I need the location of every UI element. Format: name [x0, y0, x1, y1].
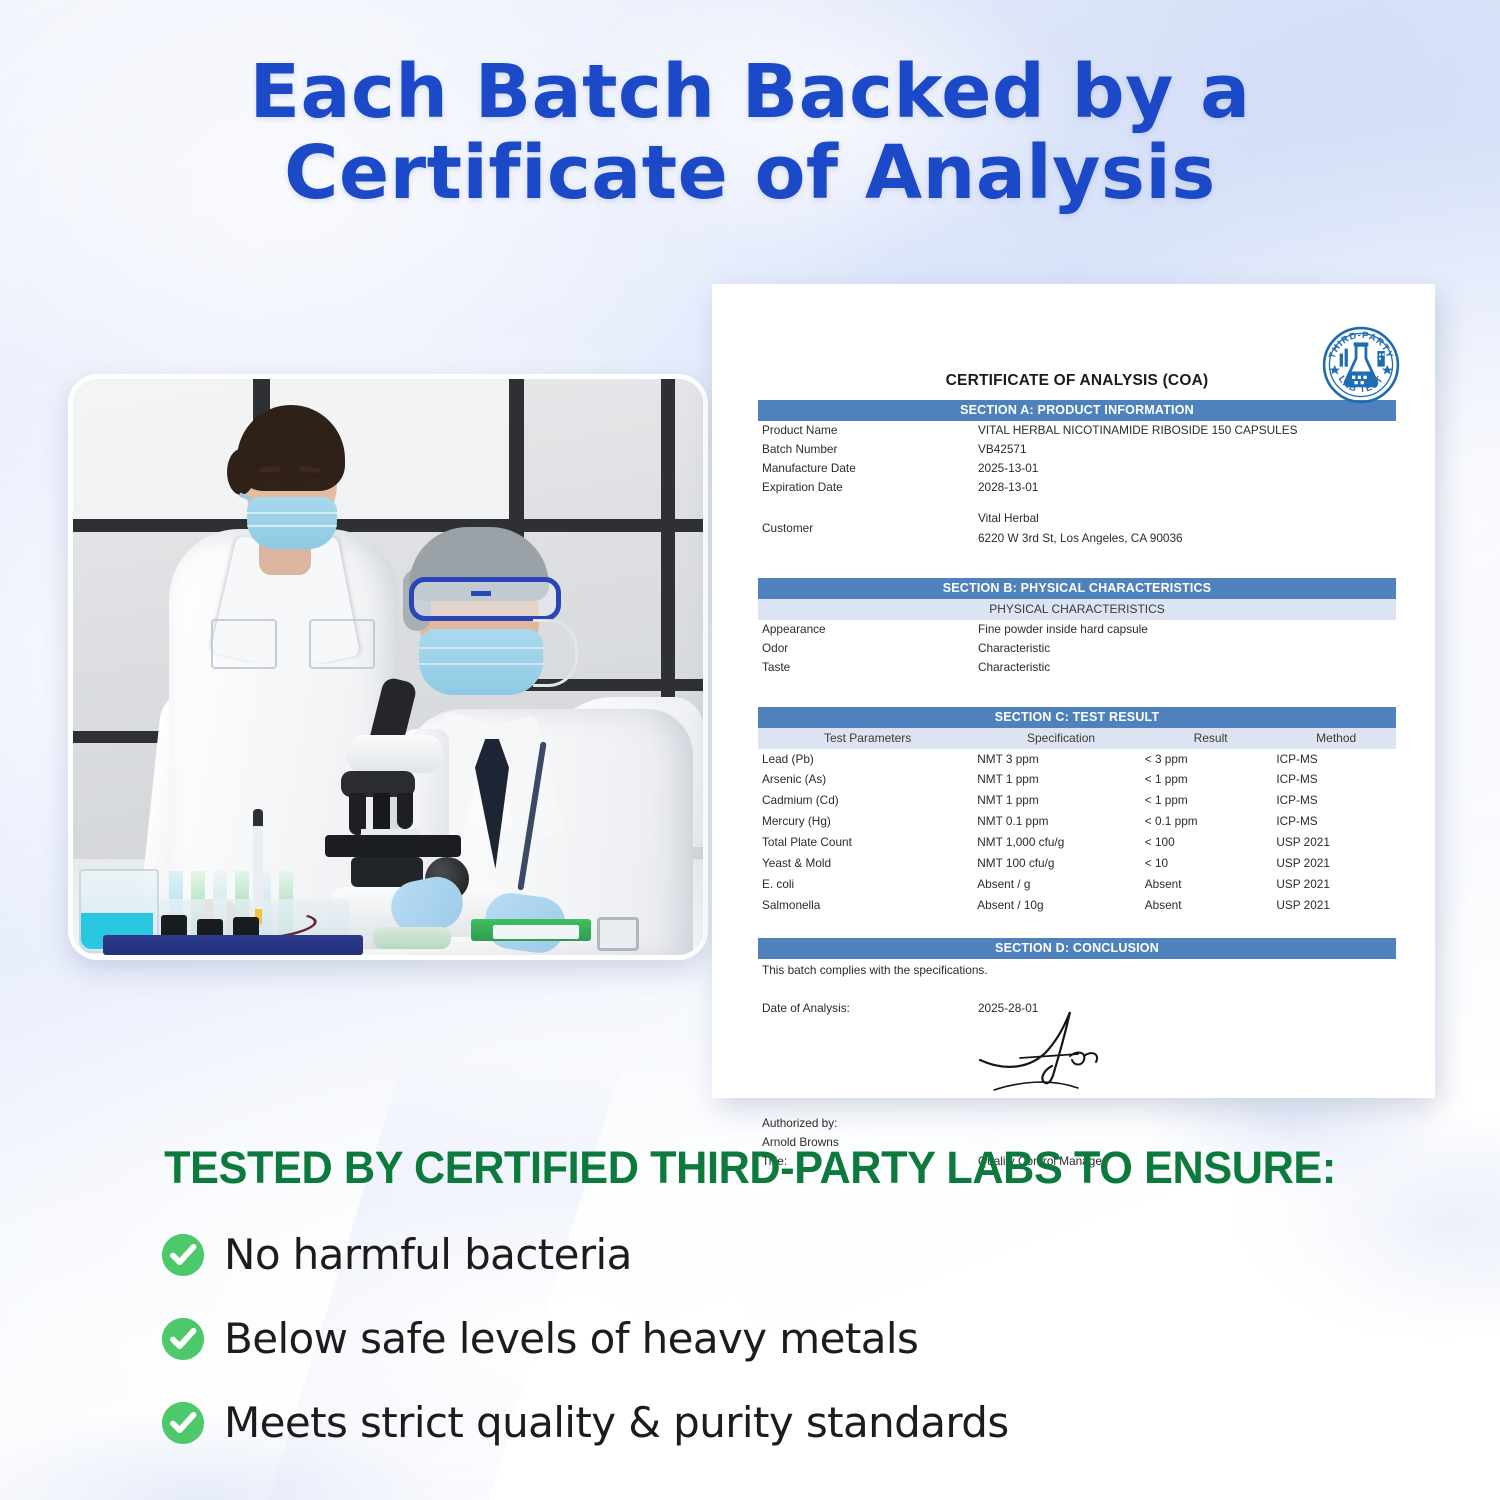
third-party-lab-test-badge: THIRD-PARTY LAB TEST	[1320, 324, 1402, 406]
row-value: Fine powder inside hard capsule	[978, 620, 1396, 639]
table-cell: Absent / 10g	[977, 895, 1145, 916]
table-row: Arsenic (As)NMT 1 ppm< 1 ppmICP-MS	[758, 770, 1396, 791]
face-mask	[419, 629, 543, 695]
table-cell: < 10	[1145, 853, 1277, 874]
promo-canvas: Each Batch Backed by a Certificate of An…	[0, 0, 1500, 1500]
table-row: SalmonellaAbsent / 10gAbsentUSP 2021	[758, 895, 1396, 916]
conclusion-text: This batch complies with the specificati…	[758, 959, 1396, 977]
coat-pocket	[309, 619, 375, 669]
appearance-row: Appearance Fine powder inside hard capsu…	[758, 620, 1396, 639]
section-a-heading: SECTION A: PRODUCT INFORMATION	[758, 400, 1396, 421]
safety-goggles-icon	[471, 591, 491, 596]
row-value: 2025-13-01	[978, 459, 1396, 478]
customer-name: Vital Herbal	[978, 509, 1396, 528]
table-cell: NMT 1,000 cfu/g	[977, 832, 1145, 853]
column-header-result: Result	[1145, 728, 1277, 749]
mask-pleat	[419, 663, 543, 665]
table-cell: Cadmium (Cd)	[758, 791, 977, 812]
window-pane	[73, 379, 253, 519]
row-label: Customer	[758, 519, 978, 538]
lab-equipment	[597, 917, 639, 951]
table-row: Lead (Pb)NMT 3 ppm< 3 ppmICP-MS	[758, 749, 1396, 770]
expiration-date-row: Expiration Date 2028-13-01	[758, 478, 1396, 497]
check-circle-icon	[160, 1400, 206, 1446]
petri-dish	[373, 927, 451, 949]
table-cell: USP 2021	[1276, 853, 1396, 874]
table-cell: NMT 1 ppm	[977, 791, 1145, 812]
list-item: No harmful bacteria	[160, 1232, 1360, 1278]
tested-by-heading: TESTED BY CERTIFIED THIRD-PARTY LABS TO …	[30, 1142, 1470, 1194]
table-cell: ICP-MS	[1276, 812, 1396, 833]
column-header-method: Method	[1276, 728, 1396, 749]
page-title: Each Batch Backed by a Certificate of An…	[0, 52, 1500, 215]
table-cell: < 100	[1145, 832, 1277, 853]
table-cell: Mercury (Hg)	[758, 812, 977, 833]
row-label: Expiration Date	[758, 478, 978, 497]
section-b-subheading: PHYSICAL CHARACTERISTICS	[758, 599, 1396, 620]
table-cell: NMT 3 ppm	[977, 749, 1145, 770]
lab-equipment	[493, 925, 579, 939]
section-d-heading: SECTION D: CONCLUSION	[758, 938, 1396, 959]
test-results-table: Test Parameters Specification Result Met…	[758, 728, 1396, 916]
list-item-label: No harmful bacteria	[224, 1234, 632, 1276]
headline-line-2: Certificate of Analysis	[0, 133, 1500, 214]
table-cell: < 3 ppm	[1145, 749, 1277, 770]
row-label: Taste	[758, 658, 978, 677]
check-circle-icon	[160, 1316, 206, 1362]
table-cell: Yeast & Mold	[758, 853, 977, 874]
safety-goggles-icon	[409, 577, 561, 621]
table-cell: Salmonella	[758, 895, 977, 916]
headline-line-1: Each Batch Backed by a	[0, 52, 1500, 133]
table-row: Yeast & MoldNMT 100 cfu/g< 10USP 2021	[758, 853, 1396, 874]
signature-icon	[974, 1002, 1134, 1102]
row-label: Batch Number	[758, 440, 978, 459]
table-cell: USP 2021	[1276, 895, 1396, 916]
check-circle-icon	[160, 1232, 206, 1278]
row-label: Product Name	[758, 421, 978, 440]
row-label: Date of Analysis:	[758, 999, 978, 1018]
eye	[302, 479, 320, 487]
table-cell: Lead (Pb)	[758, 749, 977, 770]
mask-pleat	[247, 512, 337, 514]
face-mask	[247, 497, 337, 549]
certificate-of-analysis-card: THIRD-PARTY LAB TEST	[712, 284, 1435, 1098]
row-label: Appearance	[758, 620, 978, 639]
lab-photo	[68, 374, 708, 960]
table-cell: USP 2021	[1276, 874, 1396, 895]
benefits-checklist: No harmful bacteriaBelow safe levels of …	[160, 1232, 1360, 1484]
product-name-row: Product Name VITAL HERBAL NICOTINAMIDE R…	[758, 421, 1396, 440]
manufacture-date-row: Manufacture Date 2025-13-01	[758, 459, 1396, 478]
table-cell: Absent	[1145, 895, 1277, 916]
table-cell: Absent	[1145, 874, 1277, 895]
row-label: Manufacture Date	[758, 459, 978, 478]
microscope-stage	[325, 835, 461, 857]
table-row: Mercury (Hg)NMT 0.1 ppm< 0.1 ppmICP-MS	[758, 812, 1396, 833]
microscope-objective	[397, 793, 413, 829]
taste-row: Taste Characteristic	[758, 658, 1396, 677]
table-cell: < 1 ppm	[1145, 791, 1277, 812]
table-cell: < 0.1 ppm	[1145, 812, 1277, 833]
row-value: VITAL HERBAL NICOTINAMIDE RIBOSIDE 150 C…	[978, 421, 1396, 440]
table-cell: Total Plate Count	[758, 832, 977, 853]
row-value: VB42571	[978, 440, 1396, 459]
table-cell: ICP-MS	[1276, 749, 1396, 770]
pipette	[253, 809, 263, 915]
authorized-by-row: Authorized by:	[758, 1114, 1396, 1133]
batch-number-row: Batch Number VB42571	[758, 440, 1396, 459]
customer-address: 6220 W 3rd St, Los Angeles, CA 90036	[978, 529, 1396, 548]
lab-scene	[73, 379, 703, 955]
table-row: Cadmium (Cd)NMT 1 ppm< 1 ppmICP-MS	[758, 791, 1396, 812]
mask-pleat	[247, 525, 337, 527]
coa-title: CERTIFICATE OF ANALYSIS (COA)	[758, 372, 1396, 390]
section-b-heading: SECTION B: PHYSICAL CHARACTERISTICS	[758, 578, 1396, 599]
list-item-label: Below safe levels of heavy metals	[224, 1318, 918, 1360]
table-cell: Absent / g	[977, 874, 1145, 895]
odor-row: Odor Characteristic	[758, 639, 1396, 658]
table-cell: ICP-MS	[1276, 770, 1396, 791]
customer-row: Customer Vital Herbal 6220 W 3rd St, Los…	[758, 509, 1396, 547]
column-header-test-parameters: Test Parameters	[758, 728, 977, 749]
table-cell: USP 2021	[1276, 832, 1396, 853]
section-c-heading: SECTION C: TEST RESULT	[758, 707, 1396, 728]
row-value: Characteristic	[978, 639, 1396, 658]
eye	[262, 479, 280, 487]
table-row: Total Plate CountNMT 1,000 cfu/g< 100USP…	[758, 832, 1396, 853]
row-label: Authorized by:	[758, 1114, 978, 1133]
table-cell: NMT 0.1 ppm	[977, 812, 1145, 833]
scientist-woman-hair	[227, 449, 255, 495]
microscope-arm	[347, 735, 443, 773]
table-cell: Arsenic (As)	[758, 770, 977, 791]
table-row: E. coliAbsent / gAbsentUSP 2021	[758, 874, 1396, 895]
list-item-label: Meets strict quality & purity standards	[224, 1402, 1009, 1444]
window-frame	[73, 519, 703, 532]
flask-icon: THIRD-PARTY LAB TEST	[1320, 324, 1402, 406]
signature-area	[758, 1018, 1396, 1114]
table-header-row: Test Parameters Specification Result Met…	[758, 728, 1396, 749]
row-value: 2028-13-01	[978, 478, 1396, 497]
table-cell: NMT 1 ppm	[977, 770, 1145, 791]
list-item: Meets strict quality & purity standards	[160, 1400, 1360, 1446]
table-cell: ICP-MS	[1276, 791, 1396, 812]
coat-pocket	[211, 619, 277, 669]
table-cell: < 1 ppm	[1145, 770, 1277, 791]
table-cell: E. coli	[758, 874, 977, 895]
mask-pleat	[419, 647, 543, 649]
row-value: Characteristic	[978, 658, 1396, 677]
column-header-specification: Specification	[977, 728, 1145, 749]
list-item: Below safe levels of heavy metals	[160, 1316, 1360, 1362]
lab-tray	[103, 935, 363, 955]
table-cell: NMT 100 cfu/g	[977, 853, 1145, 874]
row-label: Odor	[758, 639, 978, 658]
